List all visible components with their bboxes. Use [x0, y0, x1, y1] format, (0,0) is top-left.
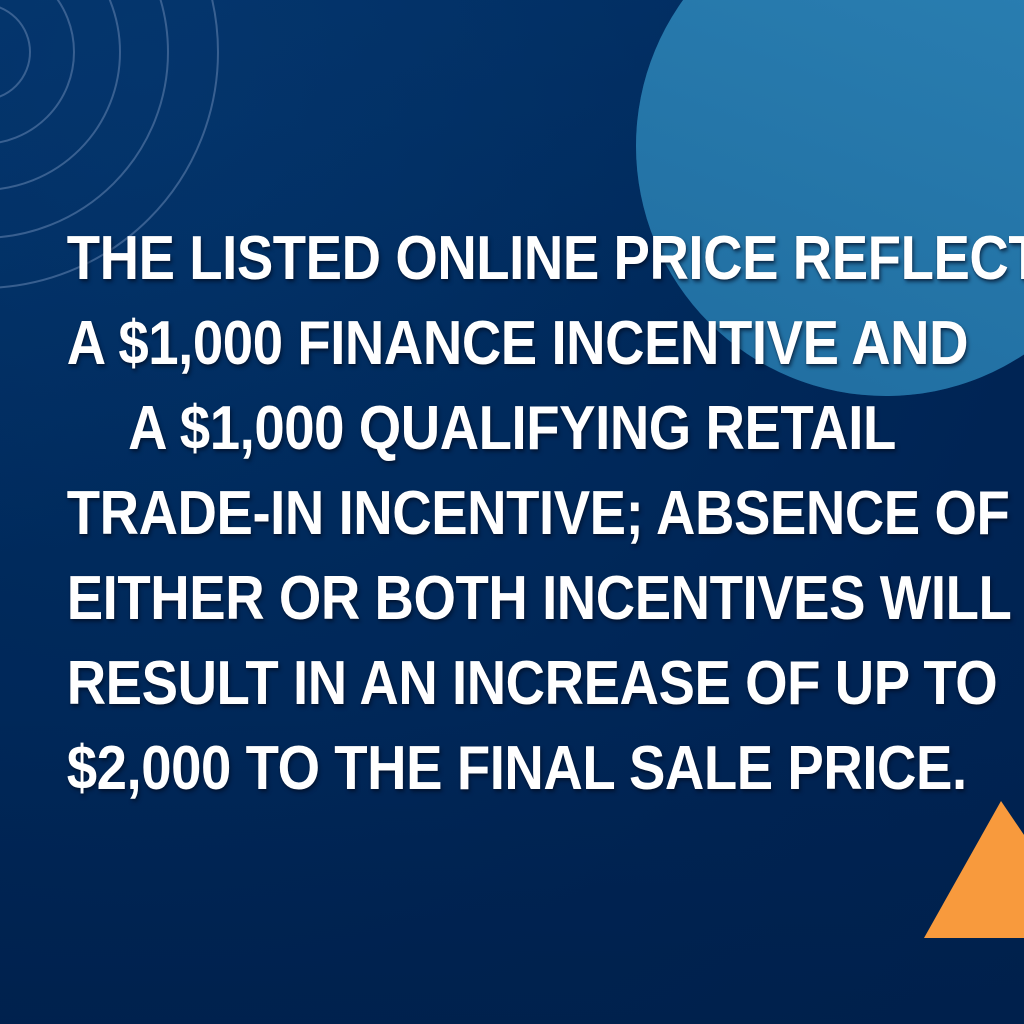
disclaimer-line-4: TRADE-IN INCENTIVE; ABSENCE OF — [67, 471, 958, 556]
disclaimer-line-7: $2,000 TO THE FINAL SALE PRICE. — [67, 726, 958, 811]
disclaimer-line-6: RESULT IN AN INCREASE OF UP TO — [67, 641, 958, 726]
disclaimer-line-3: A $1,000 QUALIFYING RETAIL — [67, 386, 958, 471]
disclaimer-line-2: A $1,000 FINANCE INCENTIVE AND — [67, 301, 958, 386]
disclaimer-line-5: EITHER OR BOTH INCENTIVES WILL — [67, 556, 958, 641]
disclaimer-text-block: THE LISTED ONLINE PRICE REFLECTS A $1,00… — [0, 216, 1024, 811]
disclaimer-line-1: THE LISTED ONLINE PRICE REFLECTS — [67, 216, 958, 301]
promotional-disclaimer-graphic: THE LISTED ONLINE PRICE REFLECTS A $1,00… — [0, 0, 1024, 1024]
